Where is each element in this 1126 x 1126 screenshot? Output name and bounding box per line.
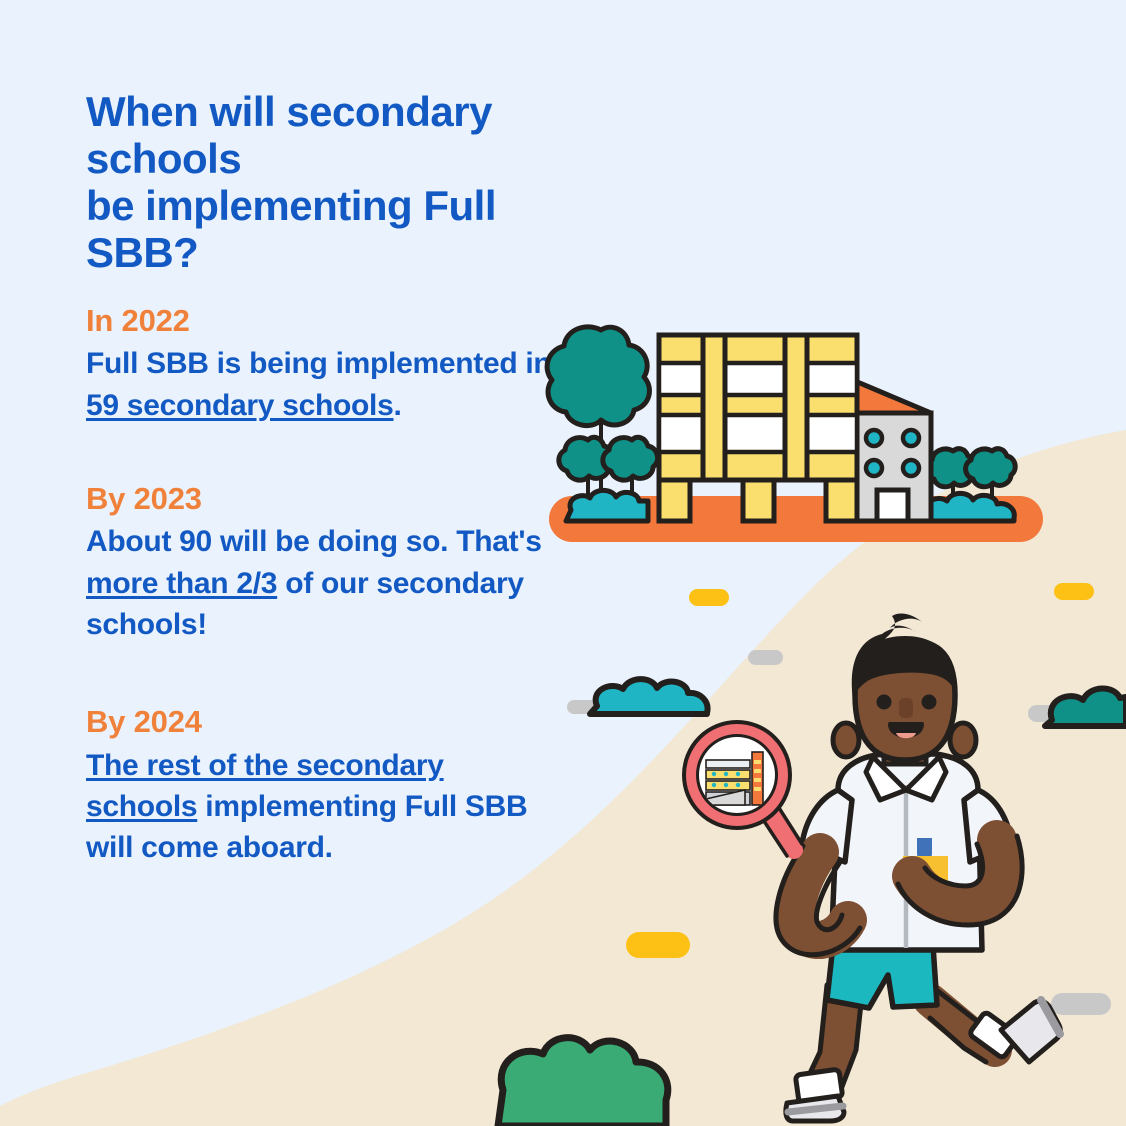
section-2023-body-highlight: more than 2/3 [86, 567, 277, 600]
section-2023-body-pre: About 90 will be doing so. That's [86, 525, 542, 558]
section-2024-body: The rest of the secondary schools implem… [86, 745, 556, 869]
page-title-line-1: When will secondary schools [86, 88, 492, 182]
section-2022: In 2022 Full SBB is being implemented in… [86, 302, 556, 426]
section-2023-body: About 90 will be doing so. That's more t… [86, 521, 556, 645]
infographic-canvas: When will secondary schools be implement… [0, 0, 1126, 1126]
section-2022-body-pre: Full SBB is being implemented in [86, 347, 551, 380]
section-gap-2 [86, 675, 556, 703]
page-title-line-2: be implementing Full SBB? [86, 182, 496, 276]
section-2023: By 2023 About 90 will be doing so. That'… [86, 480, 556, 645]
page-title: When will secondary schools be implement… [86, 88, 556, 276]
text-column: When will secondary schools be implement… [86, 88, 556, 899]
section-2024: By 2024 The rest of the secondary school… [86, 703, 556, 868]
section-2024-year: By 2024 [86, 703, 556, 740]
section-2022-body-highlight: 59 secondary schools [86, 389, 393, 422]
section-2023-year: By 2023 [86, 480, 556, 517]
section-gap-1 [86, 456, 556, 480]
section-2022-year: In 2022 [86, 302, 556, 339]
section-2022-body: Full SBB is being implemented in 59 seco… [86, 343, 556, 426]
section-2022-body-post: . [393, 389, 401, 422]
